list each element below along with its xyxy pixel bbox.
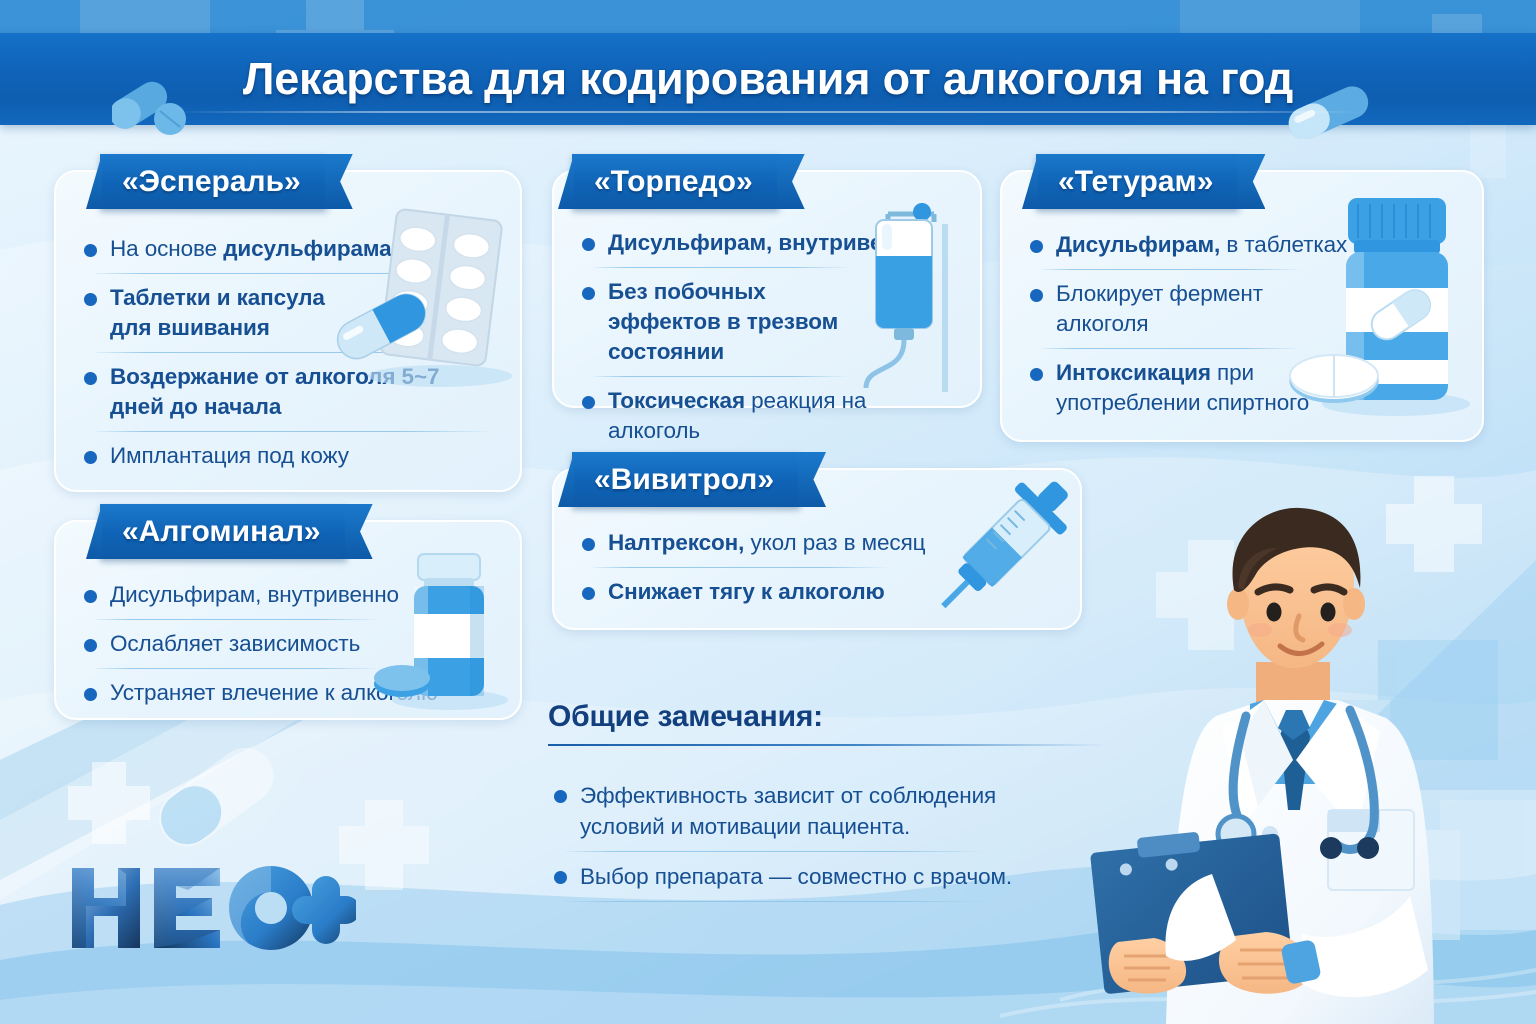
bullet-dot-icon xyxy=(1030,289,1043,302)
bullet-text-bold: Дисульфирам, xyxy=(1056,232,1220,257)
card-vivitrol[interactable]: «Вивитрол» Налтрексон xyxy=(552,468,1082,630)
list-item: Выбор препарата — совместно с врачом. xyxy=(548,861,1108,892)
card-bullet-list: Дисульфирам, внутривенно Ослабляет завис… xyxy=(56,580,520,708)
card-title: «Алгоминал» xyxy=(122,517,321,547)
separator xyxy=(96,668,380,669)
list-item: Блокирует фермент алкоголя xyxy=(1002,279,1482,339)
bullet-dot-icon xyxy=(582,587,595,600)
separator xyxy=(594,567,890,568)
bullet-text-bold: Токсическая xyxy=(608,388,745,413)
bullet-dot-icon xyxy=(84,372,97,385)
card-teturam[interactable]: «Тетурам» xyxy=(1000,170,1484,442)
list-item: Таблетки и капсула для вшивания xyxy=(56,283,520,343)
card-title: «Торпедо» xyxy=(594,167,753,197)
bullet-dot-icon xyxy=(84,244,97,257)
list-item: Воздержание от алкоголя 5~7 дней до нача… xyxy=(56,362,520,422)
bullet-text-bold: Налтрексон, xyxy=(608,530,744,555)
list-item: Эффективность зависит от соблюдения усло… xyxy=(548,780,1108,842)
separator xyxy=(96,431,494,432)
list-item: Токсическая реакция на алкоголь xyxy=(554,386,980,446)
bullet-text-tail: в таблетках xyxy=(1220,232,1347,257)
bullet-text-plain: Устраняет влечение к алкоголю xyxy=(110,680,438,705)
list-item: Дисульфирам, внутривенно xyxy=(554,228,980,258)
bullet-text-plain: Имплантация под кожу xyxy=(110,443,349,468)
list-item: Дисульфирам, в таблетках xyxy=(1002,230,1482,260)
bullet-text-plain: На основе xyxy=(110,236,223,261)
infographic-poster: Лекарства для кодирования от алкоголя на… xyxy=(0,0,1536,1024)
bullet-dot-icon xyxy=(1030,240,1043,253)
bullet-dot-icon xyxy=(84,590,97,603)
brand-logo[interactable] xyxy=(68,862,356,954)
card-bullet-list: Дисульфирам, внутривенно Без побочных эф… xyxy=(554,228,980,446)
separator xyxy=(594,376,850,377)
bullet-dot-icon xyxy=(582,287,595,300)
list-item: Дисульфирам, внутривенно xyxy=(56,580,520,610)
bullet-dot-icon xyxy=(582,396,595,409)
bullet-dot-icon xyxy=(1030,368,1043,381)
card-algominal[interactable]: «Алгоминал» Дисульфирам, внутривенно xyxy=(54,520,522,720)
separator xyxy=(566,851,988,852)
card-bullet-list: Налтрексон, укол раз в месяц Снижает тяг… xyxy=(554,528,1080,607)
bullet-dot-icon xyxy=(554,871,567,884)
header-banner: Лекарства для кодирования от алкоголя на… xyxy=(0,33,1536,125)
card-title-ribbon: «Алгоминал» xyxy=(100,504,347,559)
bullet-text-bold: Дисульфирам, внутривенно xyxy=(608,230,923,255)
separator xyxy=(1042,348,1302,349)
bullet-text-bold: Интоксикация xyxy=(1056,360,1211,385)
bullet-dot-icon xyxy=(84,451,97,464)
bullet-text-bold: Воздержание от алкоголя 5~7 дней до нача… xyxy=(110,364,439,419)
separator xyxy=(594,267,850,268)
card-torpedo[interactable]: «Торпедо» Дисульфирам, внутривенно xyxy=(552,170,982,408)
card-title: «Тетурам» xyxy=(1058,167,1213,197)
bullet-dot-icon xyxy=(84,688,97,701)
separator xyxy=(1042,269,1302,270)
bullet-text-bold: Без побочных эффектов в трезвом состояни… xyxy=(608,279,838,364)
list-item: Интоксикация при употреблении спиртного xyxy=(1002,358,1482,418)
capsule-icon xyxy=(1282,85,1374,139)
card-title-ribbon: «Вивитрол» xyxy=(572,452,800,507)
list-item: Без побочных эффектов в трезвом состояни… xyxy=(554,277,980,367)
separator xyxy=(96,619,380,620)
list-item: На основе дисульфирама xyxy=(56,234,520,264)
bullet-text-tail: укол раз в месяц xyxy=(744,530,925,555)
general-notes-section: Общие замечания: Эффективность зависит о… xyxy=(548,700,1108,911)
card-esperal[interactable]: «Эспераль» xyxy=(54,170,522,492)
doctor-with-clipboard-illustration xyxy=(1088,504,1508,1024)
bullet-dot-icon xyxy=(84,293,97,306)
list-item: Снижает тягу к алкоголю xyxy=(554,577,1080,607)
card-title-ribbon: «Торпедо» xyxy=(572,154,779,209)
note-text: Эффективность зависит от соблюдения усло… xyxy=(580,780,1010,842)
list-item: Устраняет влечение к алкоголю xyxy=(56,678,520,708)
card-bullet-list: Дисульфирам, в таблетках Блокирует ферме… xyxy=(1002,230,1482,418)
list-item: Имплантация под кожу xyxy=(56,441,520,471)
separator xyxy=(566,901,988,902)
notes-title: Общие замечания: xyxy=(548,700,1108,734)
card-title: «Вивитрол» xyxy=(594,465,774,495)
card-bullet-list: На основе дисульфирама Таблетки и капсул… xyxy=(56,234,520,471)
bullet-text-bold: Снижает тягу к алкоголю xyxy=(608,579,885,604)
bullet-text-plain: Дисульфирам, внутривенно xyxy=(110,582,399,607)
separator xyxy=(96,273,494,274)
card-title-ribbon: «Эспераль» xyxy=(100,154,327,209)
bullet-dot-icon xyxy=(84,639,97,652)
bullet-dot-icon xyxy=(582,538,595,551)
bullet-dot-icon xyxy=(554,790,567,803)
separator xyxy=(96,352,494,353)
list-item: Налтрексон, укол раз в месяц xyxy=(554,528,1080,558)
card-title: «Эспераль» xyxy=(122,167,301,197)
bullet-text-bold: дисульфирама xyxy=(223,236,391,261)
bullet-text-plain: Блокирует фермент алкоголя xyxy=(1056,281,1263,336)
bullet-text-bold: Таблетки и капсула для вшивания xyxy=(110,285,325,340)
note-text: Выбор препарата — совместно с врачом. xyxy=(580,861,1012,892)
bullet-text-plain: Ослабляет зависимость xyxy=(110,631,360,656)
list-item: Ослабляет зависимость xyxy=(56,629,520,659)
bullet-dot-icon xyxy=(582,238,595,251)
card-title-ribbon: «Тетурам» xyxy=(1036,154,1239,209)
